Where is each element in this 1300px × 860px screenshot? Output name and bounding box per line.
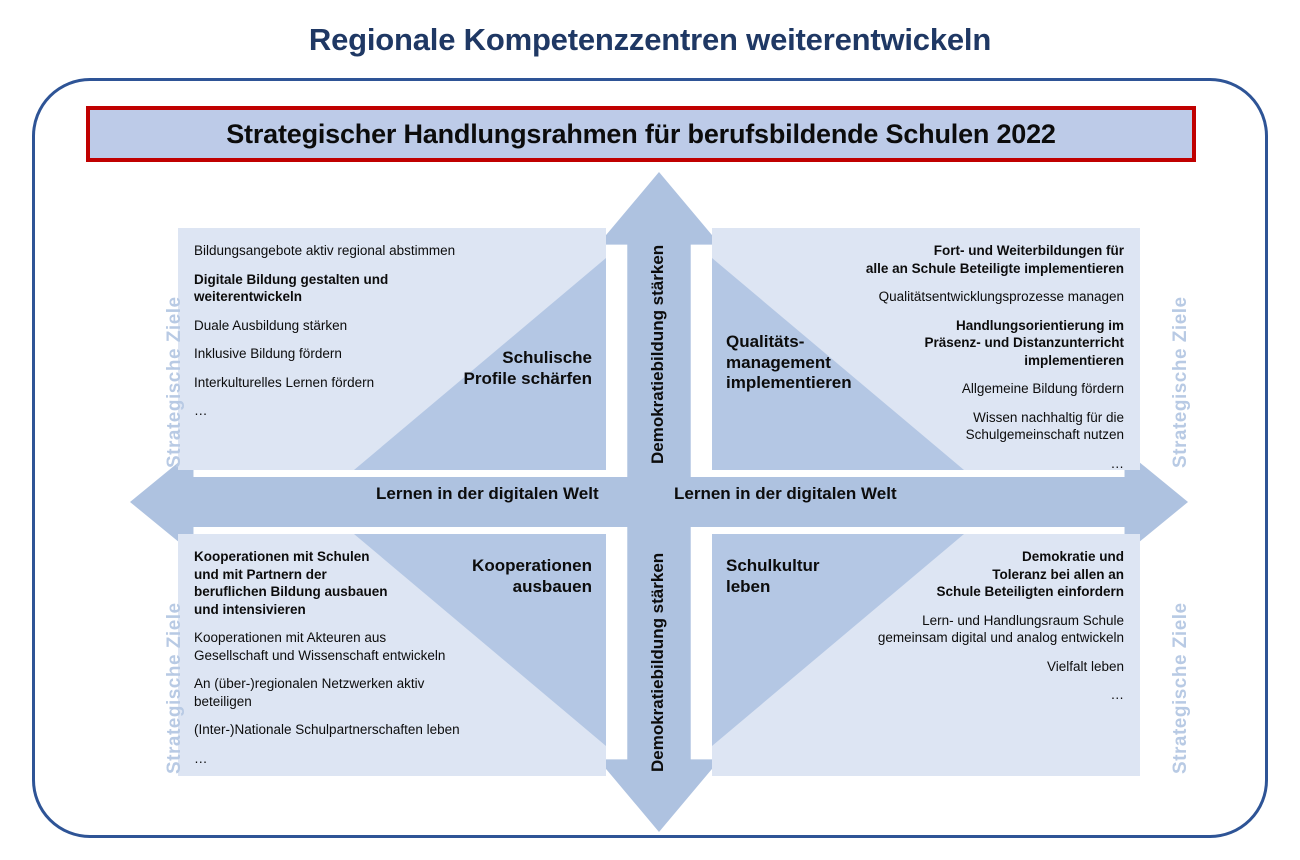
vertical-axis-label-bottom: Demokratiebildung stärken [648, 553, 668, 772]
quadrant-top-right: Qualitäts- management implementieren For… [712, 228, 1140, 470]
goal-item: (Inter-)Nationale Schulpartnerschaften l… [194, 721, 469, 739]
quadrant-top-left: Schulische Profile schärfen Bildungsange… [178, 228, 606, 470]
goal-item: Vielfalt leben [824, 658, 1124, 676]
goal-ellipsis: … [824, 455, 1124, 470]
goal-item: Kooperationen mit Akteuren aus Gesellsch… [194, 629, 469, 664]
horizontal-axis-label-left: Lernen in der digitalen Welt [376, 484, 599, 504]
goal-item: Duale Ausbildung stärken [194, 317, 469, 335]
goal-item: Allgemeine Bildung fördern [824, 380, 1124, 398]
side-label-right-bottom: Strategische Ziele [1170, 602, 1192, 774]
side-label-left-top: Strategische Ziele [164, 296, 186, 468]
goal-item: Wissen nachhaltig für die Schulgemeinsch… [824, 409, 1124, 444]
quadrant-bottom-left-goals: Kooperationen mit Schulen und mit Partne… [194, 548, 469, 776]
goal-ellipsis: … [194, 750, 469, 768]
subtitle-banner: Strategischer Handlungsrahmen für berufs… [86, 106, 1196, 162]
goal-item: Fort- und Weiterbildungen für alle an Sc… [824, 242, 1124, 277]
quadrant-top-left-headline: Schulische Profile schärfen [464, 348, 593, 389]
subtitle-text: Strategischer Handlungsrahmen für berufs… [226, 119, 1056, 150]
quadrant-bottom-left: Kooperationen ausbauen Kooperationen mit… [178, 534, 606, 776]
goal-item: Lern- und Handlungsraum Schule gemeinsam… [824, 612, 1124, 647]
quadrant-bottom-right-headline: Schulkultur leben [726, 556, 820, 597]
quadrant-bottom-right-goals: Demokratie und Toleranz bei allen an Sch… [824, 548, 1124, 715]
side-label-left-bottom: Strategische Ziele [164, 602, 186, 774]
quadrant-top-left-goals: Bildungsangebote aktiv regional abstimme… [194, 242, 469, 431]
page-title: Regionale Kompetenzzentren weiterentwick… [0, 22, 1300, 58]
side-label-right-top: Strategische Ziele [1170, 296, 1192, 468]
quadrant-bottom-right: Schulkultur leben Demokratie und Toleran… [712, 534, 1140, 776]
goal-item: Qualitätsentwicklungsprozesse managen [824, 288, 1124, 306]
goal-ellipsis: … [824, 686, 1124, 704]
goal-ellipsis: … [194, 402, 469, 420]
horizontal-axis-label-right: Lernen in der digitalen Welt [674, 484, 897, 504]
goal-item: Demokratie und Toleranz bei allen an Sch… [824, 548, 1124, 601]
vertical-axis-label-top: Demokratiebildung stärken [648, 245, 668, 464]
goal-item: Kooperationen mit Schulen und mit Partne… [194, 548, 469, 618]
quadrant-bottom-left-headline: Kooperationen ausbauen [472, 556, 592, 597]
goal-item: An (über-)regionalen Netzwerken aktiv be… [194, 675, 469, 710]
goal-item: Handlungsorientierung im Präsenz- und Di… [824, 317, 1124, 370]
strategy-diagram: Schulische Profile schärfen Bildungsange… [130, 172, 1188, 832]
goal-item: Bildungsangebote aktiv regional abstimme… [194, 242, 469, 260]
goal-item: Interkulturelles Lernen fördern [194, 374, 469, 392]
quadrant-top-right-goals: Fort- und Weiterbildungen für alle an Sc… [824, 242, 1124, 470]
goal-item: Digitale Bildung gestalten und weiterent… [194, 271, 469, 306]
goal-item: Inklusive Bildung fördern [194, 345, 469, 363]
